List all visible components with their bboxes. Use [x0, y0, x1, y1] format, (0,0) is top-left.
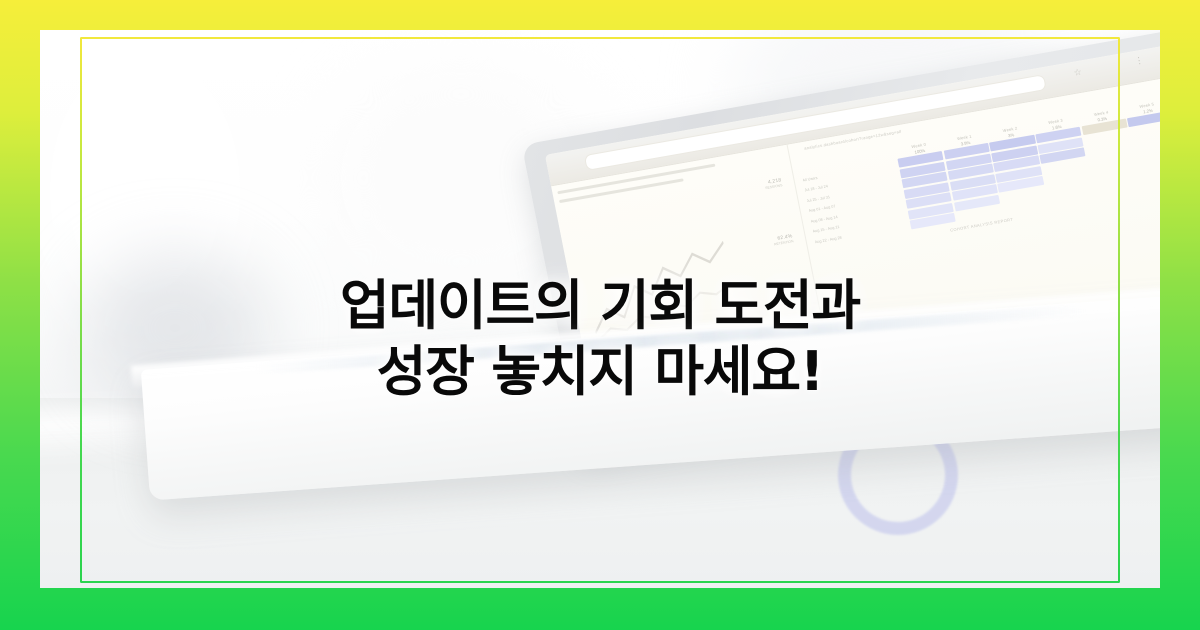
- kpi-new-users: 1,054 NEW USERS: [782, 289, 804, 302]
- kpi-retention: 62.4% RETENTION: [772, 233, 793, 246]
- promo-banner: ☆ ⋮: [0, 0, 1200, 630]
- photo-plate: ☆ ⋮: [40, 30, 1160, 588]
- bookmark-star-icon[interactable]: ☆: [1073, 68, 1083, 78]
- background-photo: ☆ ⋮: [40, 30, 1160, 588]
- laptop: ☆ ⋮: [533, 58, 1160, 493]
- browser-menu-icon[interactable]: ⋮: [1134, 56, 1145, 66]
- kpi-sessions: 4,218 SESSIONS: [763, 177, 782, 190]
